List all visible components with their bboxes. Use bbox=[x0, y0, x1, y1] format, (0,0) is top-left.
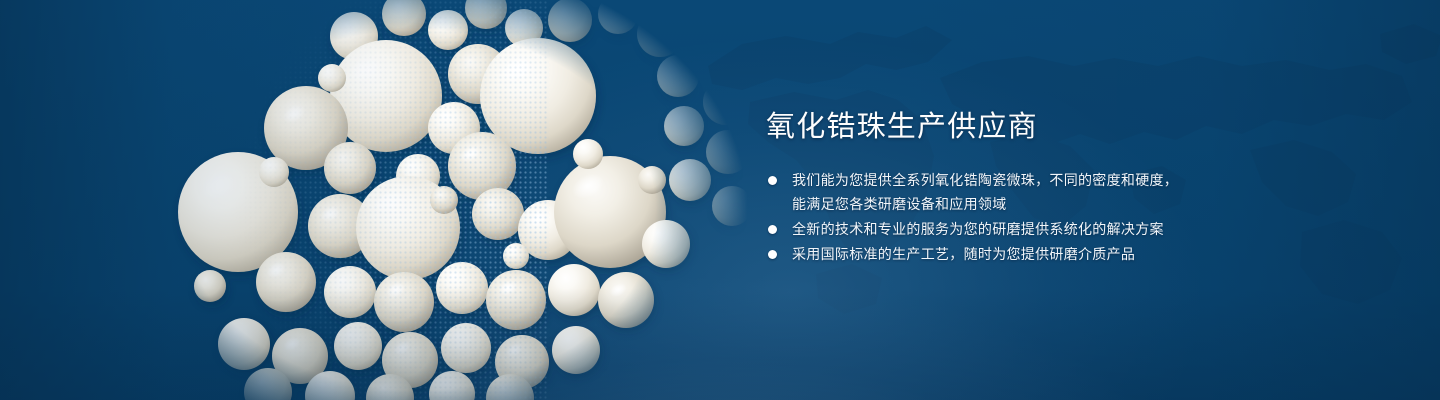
list-item: 全新的技术和专业的服务为您的研磨提供系统化的解决方案 bbox=[766, 217, 1386, 241]
bullet-dot-icon bbox=[768, 250, 777, 259]
list-item-line-1: 我们能为您提供全系列氧化锆陶瓷微珠，不同的密度和硬度， bbox=[792, 172, 1178, 188]
bullet-dot-icon bbox=[768, 176, 777, 185]
banner-copy: 氧化锆珠生产供应商 我们能为您提供全系列氧化锆陶瓷微珠，不同的密度和硬度， 能满… bbox=[766, 108, 1386, 267]
hero-banner: 氧化锆珠生产供应商 我们能为您提供全系列氧化锆陶瓷微珠，不同的密度和硬度， 能满… bbox=[0, 0, 1440, 400]
list-item-line-1: 全新的技术和专业的服务为您的研磨提供系统化的解决方案 bbox=[792, 221, 1164, 237]
feature-list: 我们能为您提供全系列氧化锆陶瓷微珠，不同的密度和硬度， 能满足您各类研磨设备和应… bbox=[766, 168, 1386, 266]
list-item-line-2: 能满足您各类研磨设备和应用领域 bbox=[792, 192, 1386, 216]
page-title: 氧化锆珠生产供应商 bbox=[766, 108, 1386, 146]
list-item-line-1: 采用国际标准的生产工艺，随时为您提供研磨介质产品 bbox=[792, 246, 1135, 262]
list-item: 采用国际标准的生产工艺，随时为您提供研磨介质产品 bbox=[766, 242, 1386, 266]
list-item: 我们能为您提供全系列氧化锆陶瓷微珠，不同的密度和硬度， 能满足您各类研磨设备和应… bbox=[766, 168, 1386, 216]
bullet-dot-icon bbox=[768, 225, 777, 234]
